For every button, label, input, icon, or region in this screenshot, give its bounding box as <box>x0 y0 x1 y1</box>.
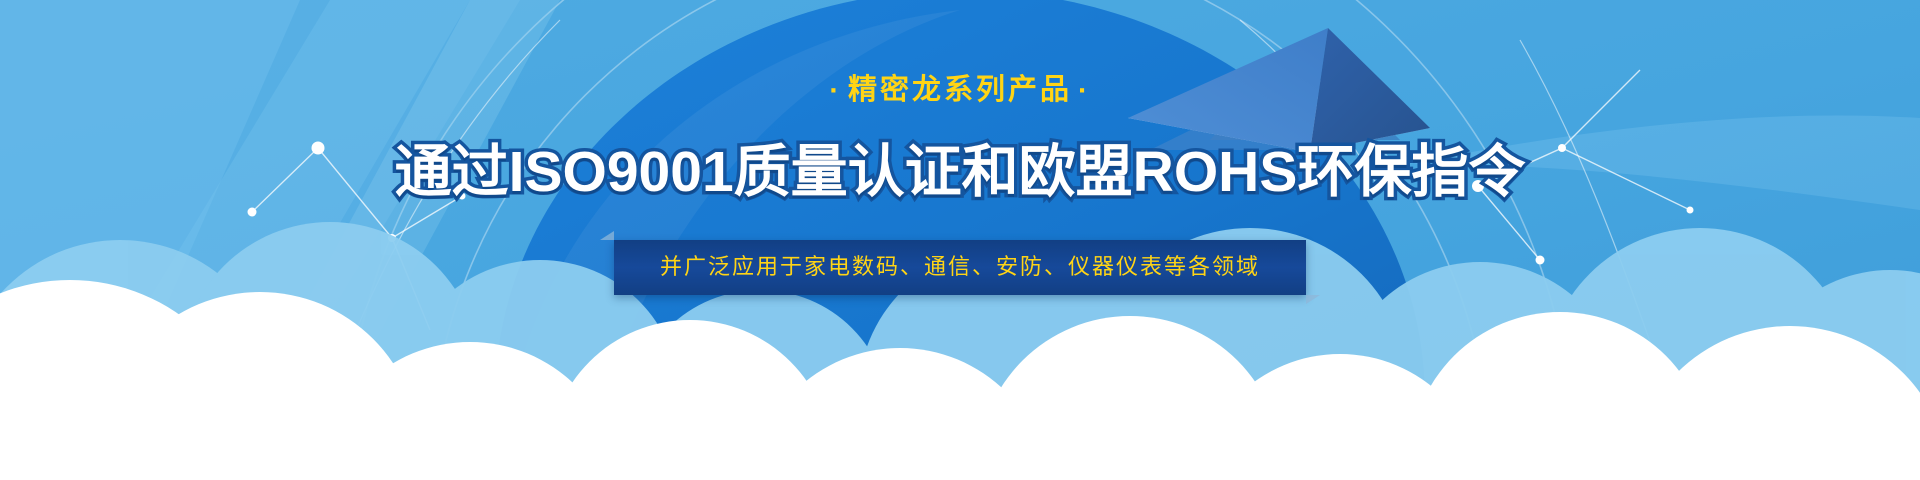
promo-banner: ·精密龙系列产品· 通过ISO9001质量认证和欧盟ROHS环保指令 并广泛应用… <box>0 0 1920 480</box>
banner-background-art <box>0 0 1920 480</box>
